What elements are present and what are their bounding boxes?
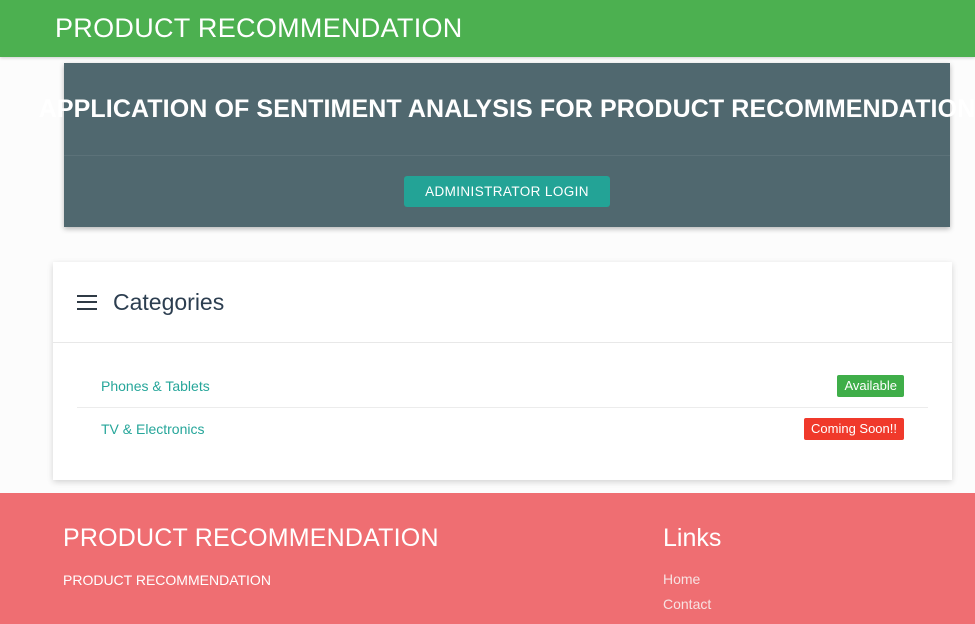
footer-links-column: Links Home Contact Register <box>663 526 721 624</box>
hero-action-area: ADMINISTRATOR LOGIN <box>64 156 950 227</box>
hamburger-icon[interactable] <box>77 295 97 310</box>
page-footer: PRODUCT RECOMMENDATION PRODUCT RECOMMEND… <box>0 493 975 624</box>
navbar-brand[interactable]: PRODUCT RECOMMENDATION <box>55 15 463 42</box>
footer-brand-column: PRODUCT RECOMMENDATION PRODUCT RECOMMEND… <box>63 526 439 587</box>
administrator-login-button[interactable]: ADMINISTRATOR LOGIN <box>404 176 610 208</box>
categories-card-header: Categories <box>53 262 952 343</box>
footer-links-list: Home Contact Register <box>663 571 721 624</box>
list-item[interactable]: Home <box>663 571 721 589</box>
hero-title: APPLICATION OF SENTIMENT ANALYSIS FOR PR… <box>39 95 975 124</box>
footer-brand: PRODUCT RECOMMENDATION <box>63 526 439 551</box>
hero-panel: APPLICATION OF SENTIMENT ANALYSIS FOR PR… <box>64 63 950 227</box>
footer-link-home[interactable]: Home <box>663 571 700 587</box>
list-item[interactable]: TV & Electronics Coming Soon!! <box>77 408 928 450</box>
top-navbar: PRODUCT RECOMMENDATION <box>0 0 975 57</box>
status-badge: Coming Soon!! <box>804 418 904 440</box>
footer-link-contact[interactable]: Contact <box>663 596 711 612</box>
list-item[interactable]: Contact <box>663 596 721 614</box>
list-item[interactable]: Phones & Tablets Available <box>77 365 928 408</box>
footer-links-heading: Links <box>663 526 721 551</box>
status-badge: Available <box>837 375 904 397</box>
categories-list: Phones & Tablets Available TV & Electron… <box>53 365 952 450</box>
categories-title: Categories <box>113 291 224 314</box>
hero-title-area: APPLICATION OF SENTIMENT ANALYSIS FOR PR… <box>64 63 950 156</box>
footer-subtitle: PRODUCT RECOMMENDATION <box>63 573 439 587</box>
page-root: PRODUCT RECOMMENDATION APPLICATION OF SE… <box>0 0 975 624</box>
category-link-tv-electronics[interactable]: TV & Electronics <box>101 421 204 437</box>
categories-card: Categories Phones & Tablets Available TV… <box>53 262 952 480</box>
category-link-phones-tablets[interactable]: Phones & Tablets <box>101 378 210 394</box>
